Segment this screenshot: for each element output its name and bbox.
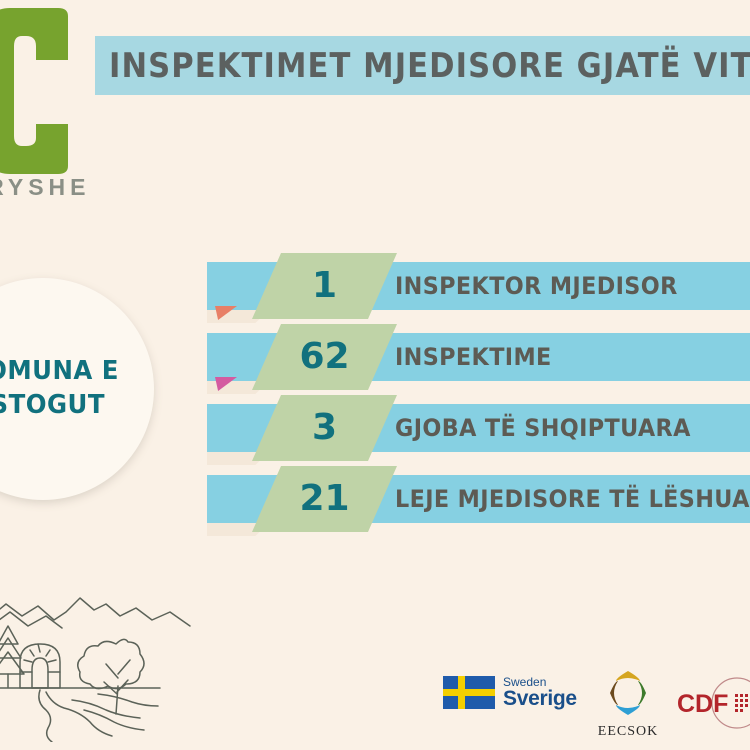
municipality-line-1: KOMUNA E bbox=[0, 355, 119, 389]
path-river bbox=[39, 690, 158, 742]
mountain-ridge bbox=[0, 598, 190, 626]
landscape-illustration bbox=[0, 582, 194, 742]
svg-text:CDF: CDF bbox=[677, 690, 728, 718]
mountain-ridge-front bbox=[0, 612, 62, 628]
stat-value: 62 bbox=[299, 336, 349, 377]
cdf-logo: CDF bbox=[675, 676, 750, 732]
footer-logos: Sweden Sverige EECSOK CDF bbox=[435, 668, 750, 744]
eecsok-diamond-icon bbox=[602, 668, 654, 718]
stat-value: 3 bbox=[312, 407, 337, 448]
municipality-badge: KOMUNA E ISTOGUT bbox=[0, 278, 154, 500]
sweden-flag-icon bbox=[443, 676, 495, 709]
stat-row: 21 LEJE MJEDISORE TË LËSHUA bbox=[207, 475, 750, 523]
municipality-line-2: ISTOGUT bbox=[0, 389, 105, 423]
stat-label: INSPEKTIME bbox=[395, 333, 552, 381]
logo-wordmark: DRYSHE bbox=[0, 174, 108, 201]
page-title: INSPEKTIMET MJEDISORE GJATË VITIT 20 bbox=[109, 46, 750, 86]
eecsok-label: EECSOK bbox=[590, 724, 666, 740]
sweden-logo: Sweden Sverige bbox=[443, 676, 577, 709]
stat-row: 62 INSPEKTIME bbox=[207, 333, 750, 381]
logo-c-mark bbox=[0, 6, 108, 176]
stat-value: 21 bbox=[299, 478, 349, 519]
organization-logo: DRYSHE bbox=[0, 6, 108, 216]
title-banner: INSPEKTIMET MJEDISORE GJATË VITIT 20 bbox=[95, 36, 750, 95]
stat-label: GJOBA TË SHQIPTUARA bbox=[395, 404, 691, 452]
eecsok-logo: EECSOK bbox=[590, 668, 666, 740]
stat-value: 1 bbox=[312, 265, 337, 306]
stat-row: 3 GJOBA TË SHQIPTUARA bbox=[207, 404, 750, 452]
infographic-page: DRYSHE INSPEKTIMET MJEDISORE GJATË VITIT… bbox=[0, 0, 750, 750]
stat-row: 1 INSPEKTOR MJEDISOR bbox=[207, 262, 750, 310]
sweden-label-swedish: Sverige bbox=[503, 688, 577, 709]
stat-label: LEJE MJEDISORE TË LËSHUA bbox=[395, 475, 750, 523]
stone-arch bbox=[20, 644, 60, 688]
stat-label: INSPEKTOR MJEDISOR bbox=[395, 262, 678, 310]
sweden-wordmark: Sweden Sverige bbox=[503, 676, 577, 709]
